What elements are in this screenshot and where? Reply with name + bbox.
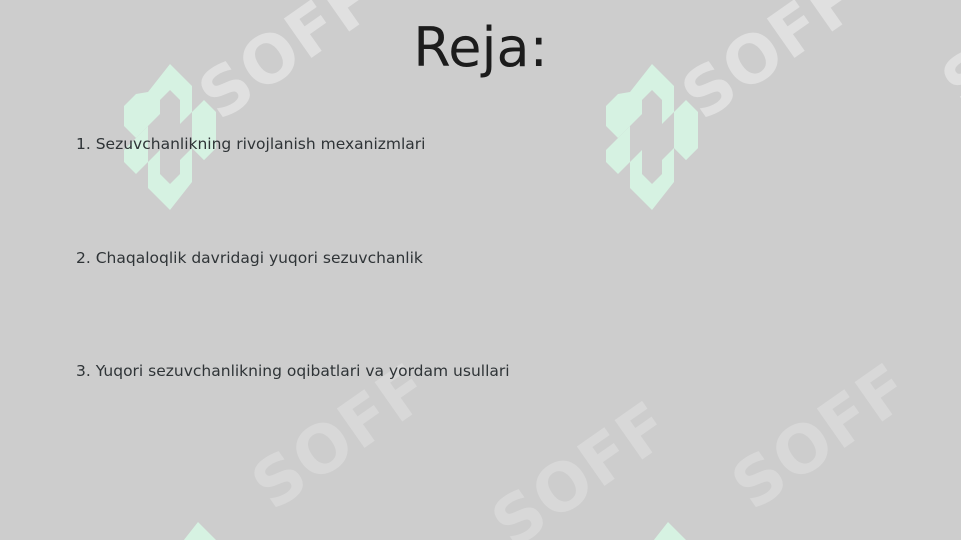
agenda-item-3: 3. Yuqori sezuvchanlikning oqibatlari va… xyxy=(76,361,510,381)
agenda-item-2: 2. Chaqaloqlik davridagi yuqori sezuvcha… xyxy=(76,248,423,268)
presentation-slide: SOFF SOFF xyxy=(0,0,961,540)
slide-content: Reja: 1. Sezuvchanlikning rivojlanish me… xyxy=(0,0,961,540)
page-title: Reja: xyxy=(0,18,961,78)
agenda-item-1: 1. Sezuvchanlikning rivojlanish mexanizm… xyxy=(76,134,425,154)
